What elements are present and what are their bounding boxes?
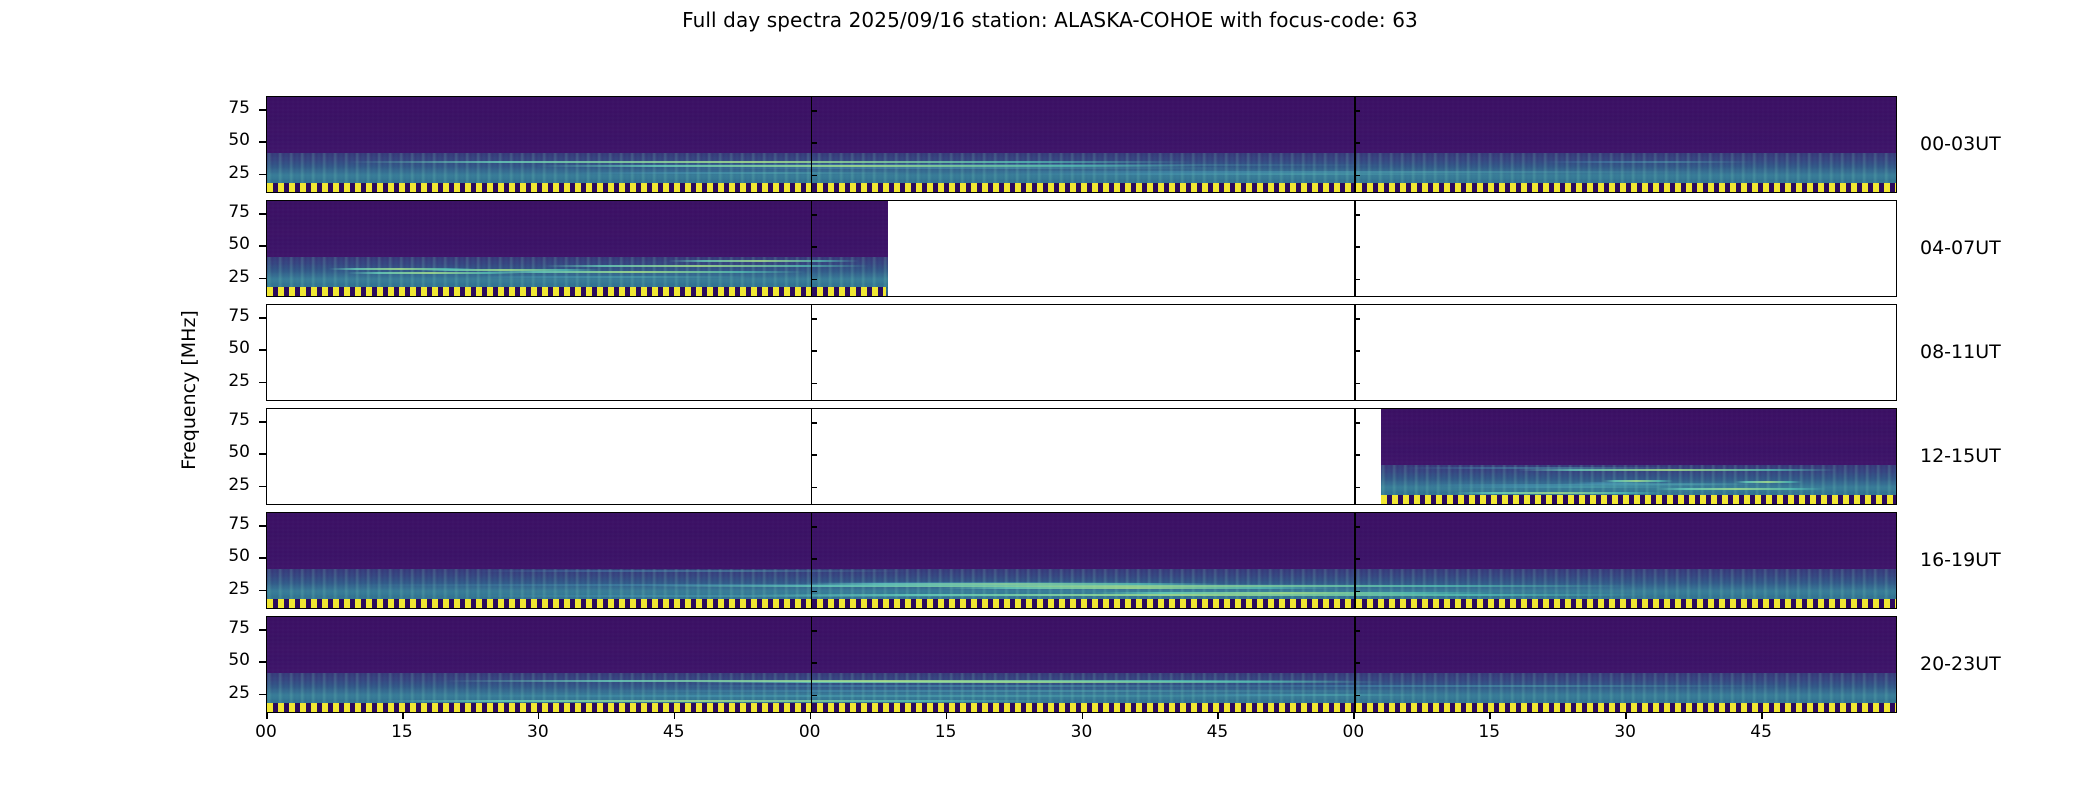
- y-tick-mark-inner: [1354, 591, 1360, 593]
- y-tick-label: 25: [0, 163, 250, 183]
- y-tick-mark: [259, 278, 266, 280]
- y-tick-label: 25: [0, 683, 250, 703]
- x-tick-mark: [1625, 713, 1627, 719]
- y-tick-mark-inner: [811, 142, 817, 144]
- y-tick-mark-inner: [811, 246, 817, 248]
- spectrogram-emission-streak: [348, 161, 1193, 163]
- spectrogram-emission-streak: [968, 171, 1724, 173]
- y-tick-mark-inner: [811, 383, 817, 385]
- y-tick-mark-inner: [1354, 318, 1360, 320]
- spectrogram-image: [267, 97, 1897, 192]
- y-tick-mark-inner: [1354, 695, 1360, 697]
- x-tick-mark: [1082, 713, 1084, 719]
- x-tick-label: 15: [1478, 722, 1500, 742]
- figure-title: Full day spectra 2025/09/16 station: ALA…: [0, 8, 2100, 32]
- spectrogram-emission-streak: [474, 276, 753, 278]
- panel-frame[interactable]: [266, 304, 1897, 401]
- panel-frame[interactable]: [266, 616, 1897, 713]
- spectrogram-emission-streak: [329, 268, 476, 270]
- spectrogram-emission-streak: [1655, 488, 1826, 490]
- y-tick-label: 50: [0, 442, 250, 462]
- y-tick-label: 50: [0, 338, 250, 358]
- y-tick-label: 75: [0, 202, 250, 222]
- row-time-label: 08-11UT: [1920, 341, 2001, 363]
- spectrogram-emission-streak: [478, 271, 807, 273]
- y-tick-label: 50: [0, 546, 250, 566]
- panel-row: [266, 616, 1897, 713]
- y-tick-mark: [259, 453, 266, 455]
- data-coverage-strip: [1381, 495, 1896, 504]
- spectrogram-image: [267, 201, 888, 296]
- y-tick-mark: [259, 317, 266, 319]
- y-tick-mark: [259, 382, 266, 384]
- y-tick-mark-inner: [1354, 246, 1360, 248]
- y-tick-mark: [259, 109, 266, 111]
- x-tick-mark: [674, 713, 676, 719]
- y-tick-mark: [259, 694, 266, 696]
- x-tick-mark: [1489, 713, 1491, 719]
- y-tick-mark: [259, 557, 266, 559]
- x-tick-mark: [810, 713, 812, 719]
- y-tick-mark-inner: [811, 591, 817, 593]
- spectrogram-emission-streak: [570, 172, 911, 174]
- spectrogram-emission-streak: [798, 582, 1163, 584]
- spectrogram-emission-streak: [1573, 482, 1661, 484]
- x-tick-mark: [1217, 713, 1219, 719]
- data-coverage-strip: [267, 183, 1896, 192]
- row-time-label: 16-19UT: [1920, 549, 2001, 571]
- spectrogram-emission-streak: [1090, 592, 1497, 594]
- y-tick-mark-inner: [1354, 630, 1360, 632]
- x-tick-label: 00: [255, 722, 277, 742]
- y-tick-mark-inner: [1354, 350, 1360, 352]
- panel-row: [266, 408, 1897, 505]
- x-tick-label: 30: [1614, 722, 1636, 742]
- data-coverage-strip: [267, 703, 1896, 712]
- x-tick-label: 30: [527, 722, 549, 742]
- y-tick-mark: [259, 213, 266, 215]
- x-tick-mark: [402, 713, 404, 719]
- data-coverage-strip: [267, 287, 886, 296]
- x-tick-label: 15: [391, 722, 413, 742]
- y-tick-mark: [259, 661, 266, 663]
- y-tick-mark-inner: [1354, 422, 1360, 424]
- y-tick-mark-inner: [1354, 487, 1360, 489]
- y-tick-mark-inner: [1354, 662, 1360, 664]
- panel-frame[interactable]: [266, 200, 1897, 297]
- x-tick-label: 30: [1071, 722, 1093, 742]
- y-tick-mark-inner: [811, 454, 817, 456]
- spectrogram-emission-streak: [1176, 694, 1433, 696]
- row-time-label: 00-03UT: [1920, 133, 2001, 155]
- spectrogram-emission-streak: [544, 265, 870, 267]
- y-tick-mark: [259, 421, 266, 423]
- y-tick-mark-inner: [811, 422, 817, 424]
- y-tick-label: 50: [0, 234, 250, 254]
- y-tick-mark-inner: [811, 695, 817, 697]
- spectrogram-image: [267, 617, 1897, 712]
- y-tick-label: 25: [0, 371, 250, 391]
- y-tick-mark-inner: [1354, 214, 1360, 216]
- x-tick-mark: [266, 713, 268, 719]
- y-tick-mark-inner: [811, 279, 817, 281]
- y-tick-label: 25: [0, 475, 250, 495]
- y-tick-label: 25: [0, 267, 250, 287]
- y-tick-label: 25: [0, 579, 250, 599]
- spectrogram-emission-streak: [1172, 685, 1789, 687]
- x-tick-label: 45: [663, 722, 685, 742]
- x-tick-label: 15: [935, 722, 957, 742]
- y-tick-mark-inner: [1354, 279, 1360, 281]
- y-tick-label: 75: [0, 514, 250, 534]
- spectrogram-image: [1381, 409, 1897, 504]
- y-tick-mark-inner: [1354, 526, 1360, 528]
- panel-frame[interactable]: [266, 96, 1897, 193]
- y-tick-label: 75: [0, 98, 250, 118]
- row-time-label: 12-15UT: [1920, 445, 2001, 467]
- x-tick-label: 45: [1207, 722, 1229, 742]
- y-tick-label: 75: [0, 618, 250, 638]
- y-tick-label: 50: [0, 130, 250, 150]
- y-tick-mark-inner: [1354, 175, 1360, 177]
- x-tick-label: 00: [1343, 722, 1365, 742]
- panel-row: [266, 304, 1897, 401]
- y-tick-mark-inner: [811, 318, 817, 320]
- y-tick-mark: [259, 486, 266, 488]
- spectrogram-image: [267, 513, 1897, 608]
- y-tick-mark-inner: [1354, 454, 1360, 456]
- spectrogram-emission-streak: [1544, 161, 1755, 163]
- spectrogram-emission-streak: [1454, 492, 1664, 494]
- row-time-label: 20-23UT: [1920, 653, 2001, 675]
- y-tick-mark-inner: [811, 630, 817, 632]
- panel-row: [266, 200, 1897, 297]
- x-tick-label: 45: [1750, 722, 1772, 742]
- x-tick-mark: [1761, 713, 1763, 719]
- y-tick-mark-inner: [1354, 142, 1360, 144]
- y-tick-mark-inner: [811, 175, 817, 177]
- y-tick-mark: [259, 629, 266, 631]
- spectrogram-emission-streak: [443, 595, 1076, 597]
- y-tick-mark-inner: [1354, 558, 1360, 560]
- y-tick-mark-inner: [811, 662, 817, 664]
- y-tick-mark-inner: [1354, 110, 1360, 112]
- y-tick-mark-inner: [811, 526, 817, 528]
- y-tick-mark-inner: [811, 558, 817, 560]
- x-tick-mark: [1353, 713, 1355, 719]
- panel-frame[interactable]: [266, 512, 1897, 609]
- y-tick-mark-inner: [811, 350, 817, 352]
- spectrogram-emission-streak: [668, 260, 859, 262]
- spectrogram-emission-streak: [570, 690, 1430, 692]
- y-tick-label: 75: [0, 410, 250, 430]
- y-tick-mark-inner: [811, 487, 817, 489]
- row-time-label: 04-07UT: [1920, 237, 2001, 259]
- x-tick-mark: [538, 713, 540, 719]
- spectrogram-emission-streak: [377, 700, 1057, 702]
- spectrogram-emission-streak: [1450, 486, 1689, 488]
- y-tick-mark: [259, 525, 266, 527]
- y-tick-mark-inner: [1354, 383, 1360, 385]
- y-tick-mark: [259, 174, 266, 176]
- y-tick-mark: [259, 245, 266, 247]
- x-tick-mark: [946, 713, 948, 719]
- y-tick-mark-inner: [811, 214, 817, 216]
- y-tick-mark-inner: [811, 110, 817, 112]
- data-coverage-strip: [267, 599, 1896, 608]
- panel-row: [266, 96, 1897, 193]
- y-tick-label: 50: [0, 650, 250, 670]
- y-tick-label: 75: [0, 306, 250, 326]
- panel-frame[interactable]: [266, 408, 1897, 505]
- spectrogram-figure: Full day spectra 2025/09/16 station: ALA…: [0, 0, 2100, 800]
- y-tick-mark: [259, 141, 266, 143]
- spectrogram-low-frequency-band: [267, 673, 1897, 703]
- y-tick-mark: [259, 349, 266, 351]
- x-tick-label: 00: [799, 722, 821, 742]
- panel-row: [266, 512, 1897, 609]
- y-tick-mark: [259, 590, 266, 592]
